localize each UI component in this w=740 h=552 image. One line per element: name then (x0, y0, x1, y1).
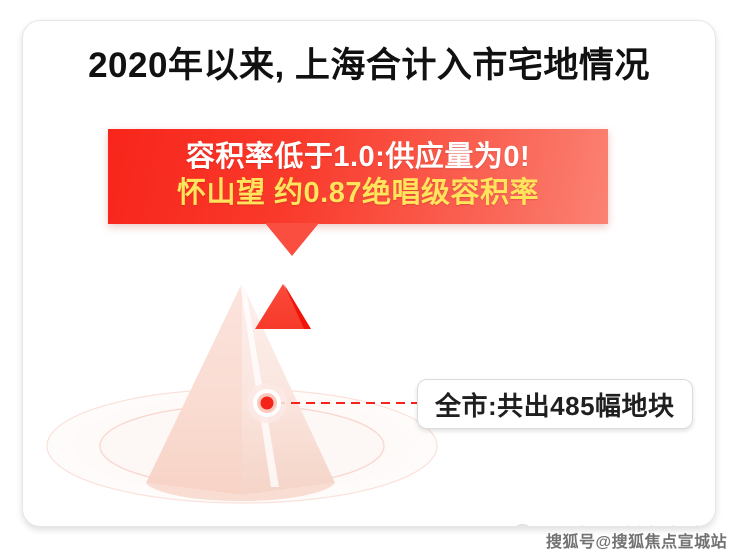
cone-base-curve (146, 483, 335, 501)
marker-inner-ring (257, 393, 277, 413)
banner-line-primary: 容积率低于1.0:供应量为0! (186, 142, 530, 174)
marker-dot[interactable] (261, 397, 274, 410)
cone-body-right-face (242, 283, 335, 495)
marker-outer-ring (247, 383, 287, 423)
page-title: 2020年以来, 上海合计入市宅地情况 (23, 45, 715, 87)
cone-red-tip-sliver (284, 284, 311, 329)
callout-label-pill: 全市:共出485幅地块 (417, 379, 693, 429)
marker-middle-ring (253, 389, 281, 417)
banner-pointer-triangle (265, 223, 319, 256)
cone-chart-illustration (23, 21, 715, 526)
callout-label-text: 全市:共出485幅地块 (435, 386, 675, 423)
wechat-watermark-text: 公众号·刘老实选房 (551, 519, 716, 527)
infographic-card: 2020年以来, 上海合计入市宅地情况 (22, 20, 716, 527)
wechat-watermark: 公众号·刘老实选房 (512, 519, 716, 527)
cone-body-left-face (146, 283, 242, 495)
cone-base-inner-ring (100, 405, 384, 487)
cone-red-tip (255, 284, 311, 329)
cone-base-outer-ring (47, 389, 437, 503)
banner-line-secondary: 怀山望 约0.87绝唱级容积率 (177, 177, 539, 210)
wechat-icon (512, 523, 542, 528)
cone-highlight-seam (240, 283, 279, 487)
sohu-watermark-text: 搜狐号@搜狐焦点宣城站 (546, 528, 727, 552)
highlight-banner: 容积率低于1.0:供应量为0! 怀山望 约0.87绝唱级容积率 (108, 129, 608, 224)
